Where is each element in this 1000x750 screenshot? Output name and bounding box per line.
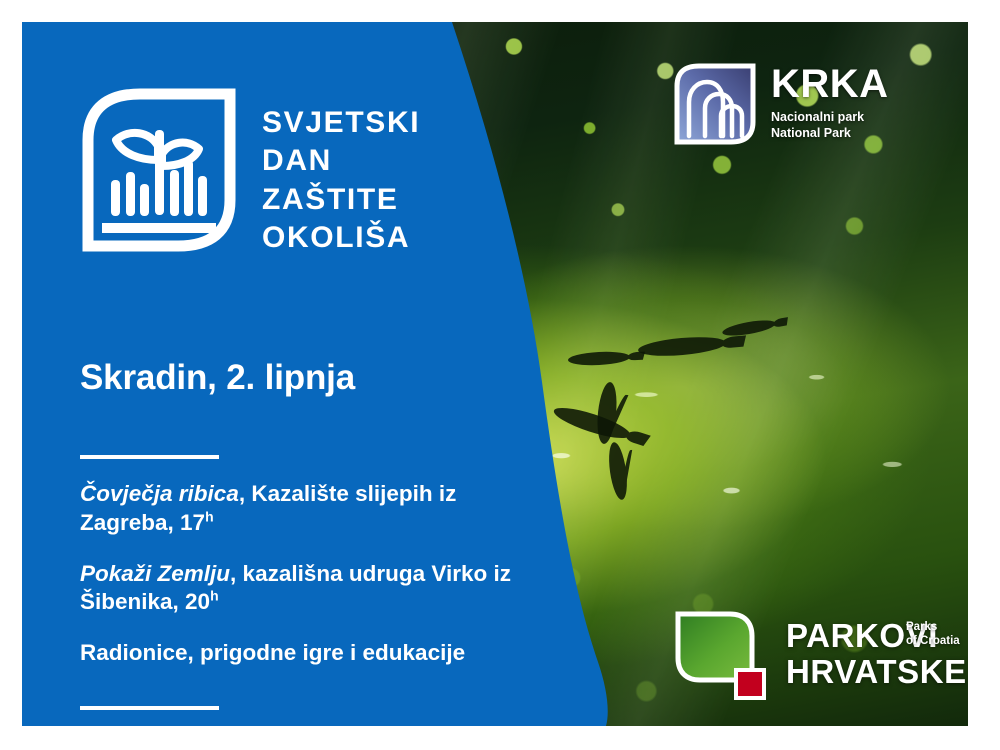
wed-line-1: SVJETSKI [262,104,492,142]
divider-top [80,455,219,459]
krka-subtitle-en: National Park [771,125,888,141]
wed-wordmark: SVJETSKI DAN ZAŠTITE OKOLIŠA [262,104,492,258]
parkovi-hrvatske-logo: PARKOVI HRVATSKE Parks of Croatia [674,610,968,710]
parkovi-subtitle-line1: Parks [906,620,960,634]
page-title: Skradin, 2. lipnja [80,358,560,398]
event-detail: Radionice, prigodne igre i edukacije [80,640,465,665]
parkovi-subtitle: Parks of Croatia [906,620,960,649]
wed-line-3: ZAŠTITE [262,181,492,219]
parkovi-wordmark-line2: HRVATSKE [786,654,967,690]
wed-line-4: OKOLIŠA [262,219,492,257]
event-time-suffix: h [210,588,219,604]
sprout-in-frame-icon [78,84,240,256]
krka-subtitle-hr: Nacionalni park [771,109,888,125]
list-item: Pokaži Zemlju, kazališna udruga Virko iz… [80,560,550,618]
parkovi-subtitle-line2: of Croatia [906,634,960,648]
parkovi-leaf-square-icon [674,610,774,704]
krka-wordmark: KRKA [771,64,888,104]
event-time-suffix: h [205,508,214,524]
krka-logo: KRKA Nacionalni park National Park [673,50,943,158]
event-title: Pokaži Zemlju [80,561,230,586]
wed-line-2: DAN [262,142,492,180]
event-title: Čovječja ribica [80,481,239,506]
list-item: Čovječja ribica, Kazalište slijepih iz Z… [80,480,550,538]
poster: SVJETSKI DAN ZAŠTITE OKOLIŠA Skradin, 2.… [22,22,968,726]
list-item: Radionice, prigodne igre i edukacije [80,639,550,668]
krka-waterfall-icon [673,62,757,146]
krka-subtitle: Nacionalni park National Park [771,109,888,141]
divider-bottom [80,706,219,710]
event-list: Čovječja ribica, Kazalište slijepih iz Z… [80,480,550,668]
